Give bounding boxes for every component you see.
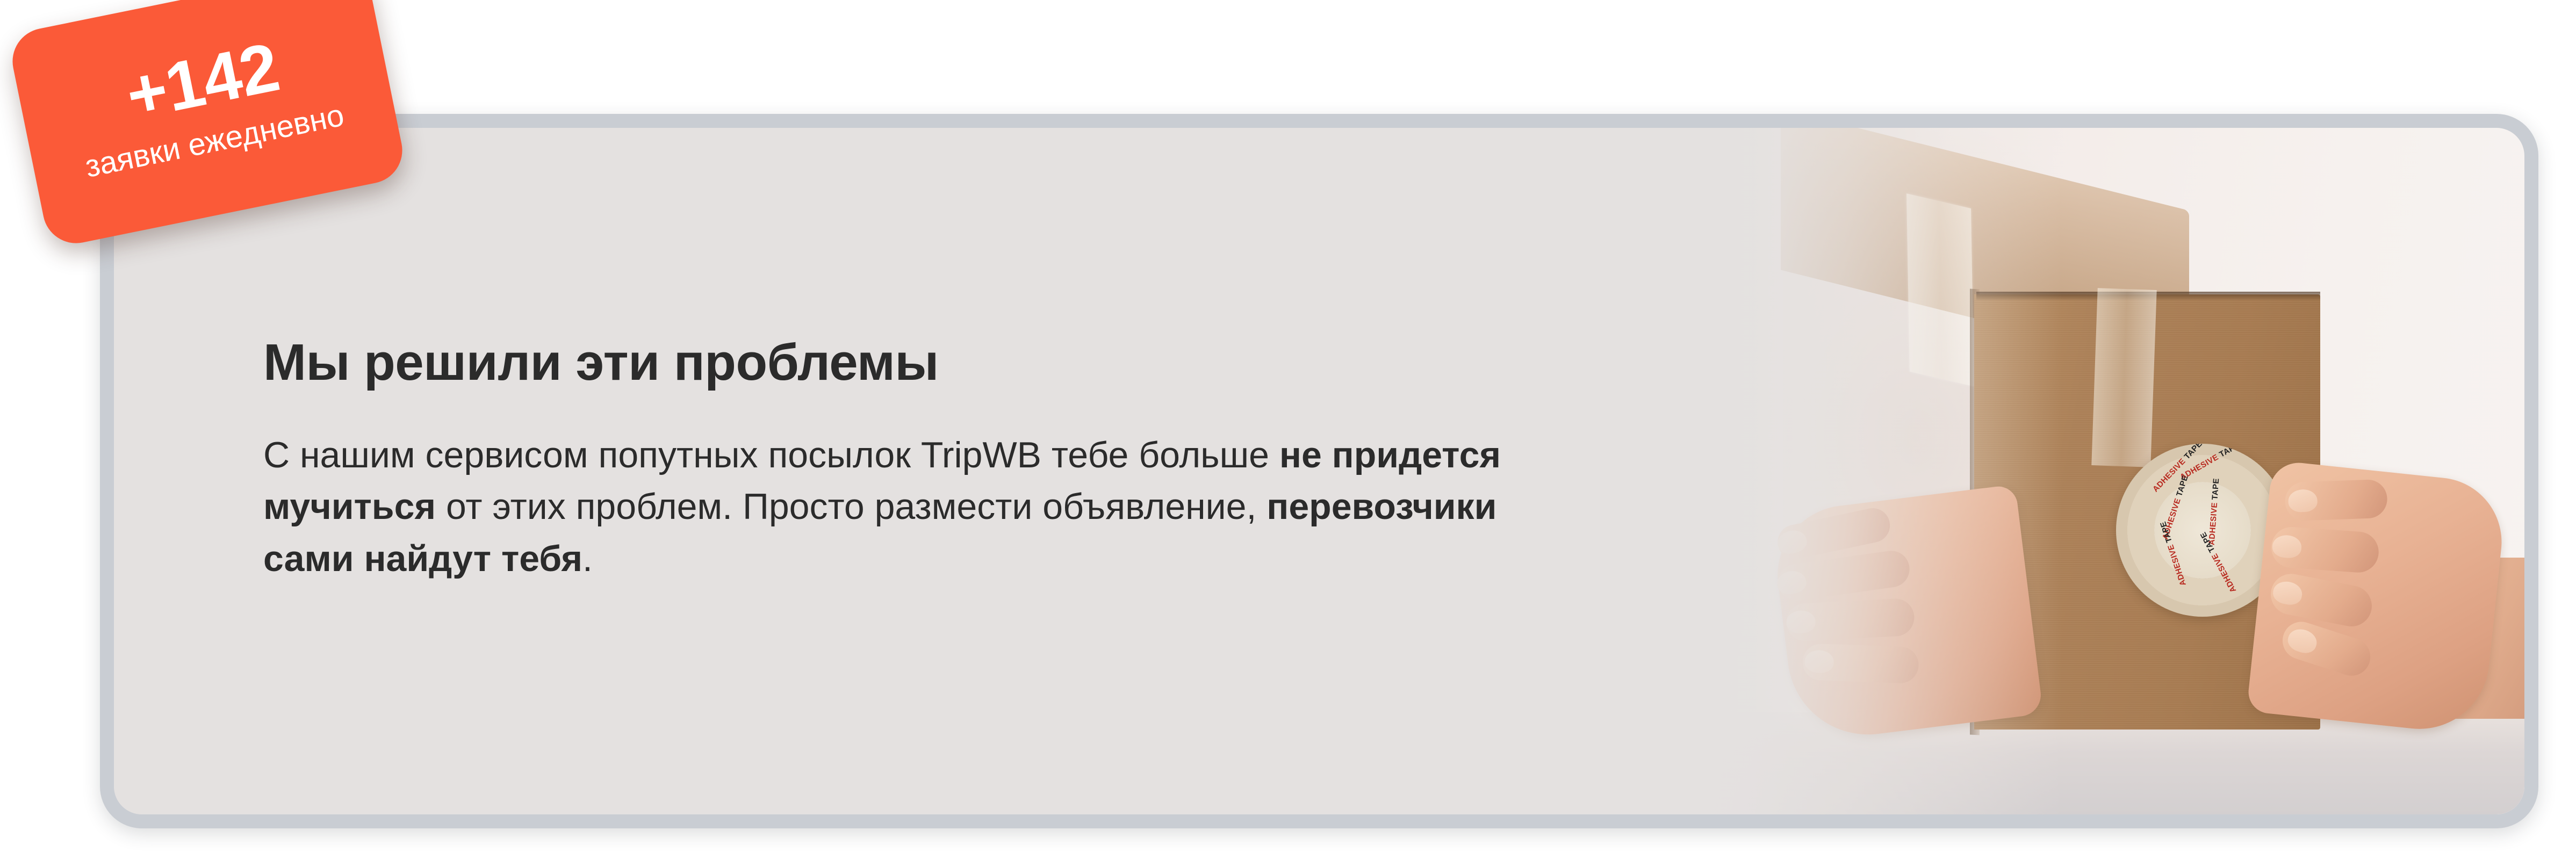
fingernail bbox=[2288, 489, 2318, 512]
fingernail bbox=[2271, 579, 2304, 607]
body-line-1: С нашим сервисом попутных посылок TripWB… bbox=[263, 435, 1269, 475]
finger bbox=[2284, 479, 2387, 522]
page-title: Мы решили эти проблемы bbox=[263, 335, 1660, 391]
fingernail bbox=[2272, 535, 2302, 559]
photo-stage: ADHESIVE TAPE ADHESIVE TAPE ADHESIVE TAP… bbox=[1686, 128, 2524, 814]
card-surface: ADHESIVE TAPE ADHESIVE TAPE ADHESIVE TAP… bbox=[114, 128, 2524, 814]
photo-left-fade bbox=[1686, 128, 2062, 814]
package-photo: ADHESIVE TAPE ADHESIVE TAPE ADHESIVE TAP… bbox=[1686, 128, 2524, 814]
promo-card: ADHESIVE TAPE ADHESIVE TAPE ADHESIVE TAP… bbox=[100, 114, 2538, 828]
fingernail bbox=[2285, 626, 2320, 656]
body-line-2: от этих проблем. Просто размести bbox=[436, 486, 1032, 527]
tape-strip-front bbox=[2091, 288, 2156, 467]
body-line-3-end: . bbox=[582, 538, 593, 579]
body-line-3-start: объявление, bbox=[1042, 486, 1267, 527]
finger bbox=[2270, 525, 2380, 574]
card-text-block: Мы решили эти проблемы С нашим сервисом … bbox=[263, 335, 1660, 584]
right-hand bbox=[2247, 460, 2508, 735]
finger bbox=[2278, 617, 2375, 680]
card-description: С нашим сервисом попутных посылок TripWB… bbox=[263, 429, 1564, 585]
finger bbox=[2267, 571, 2375, 630]
